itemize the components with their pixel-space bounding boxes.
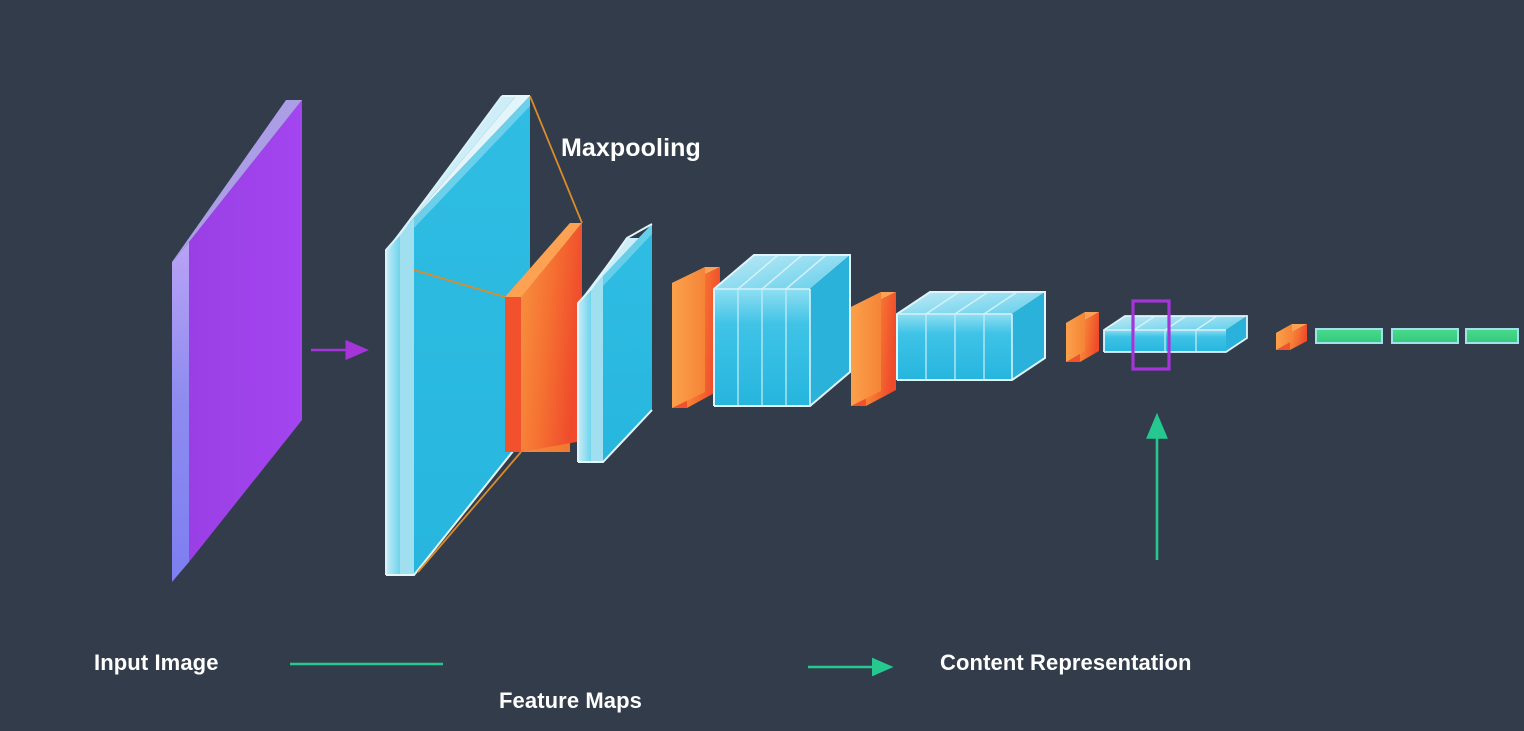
label-feature-maps: Feature Maps (convolutional layers) xyxy=(499,636,729,731)
input-image-slab xyxy=(172,100,302,582)
output-bar-3 xyxy=(1466,329,1518,343)
cnn-architecture-svg xyxy=(0,0,1524,731)
pool-block-2 xyxy=(672,267,720,408)
label-maxpooling: Maxpooling xyxy=(561,134,701,164)
output-bar-1 xyxy=(1316,329,1382,343)
label-feature-maps-line1: Feature Maps xyxy=(499,688,729,714)
label-input-image: Input Image xyxy=(94,650,219,676)
pool-block-4 xyxy=(1066,312,1099,362)
label-content-representation: Content Representation xyxy=(940,650,1192,676)
conv-block-3 xyxy=(714,255,850,406)
pool-block-3 xyxy=(851,292,896,406)
pool-block-5 xyxy=(1276,324,1307,350)
output-bar-2 xyxy=(1392,329,1458,343)
conv-block-2 xyxy=(578,224,652,462)
conv-block-4 xyxy=(897,292,1045,380)
diagram-canvas: Maxpooling Input Image Feature Maps (con… xyxy=(0,0,1524,731)
conv-block-5 xyxy=(1104,316,1247,352)
